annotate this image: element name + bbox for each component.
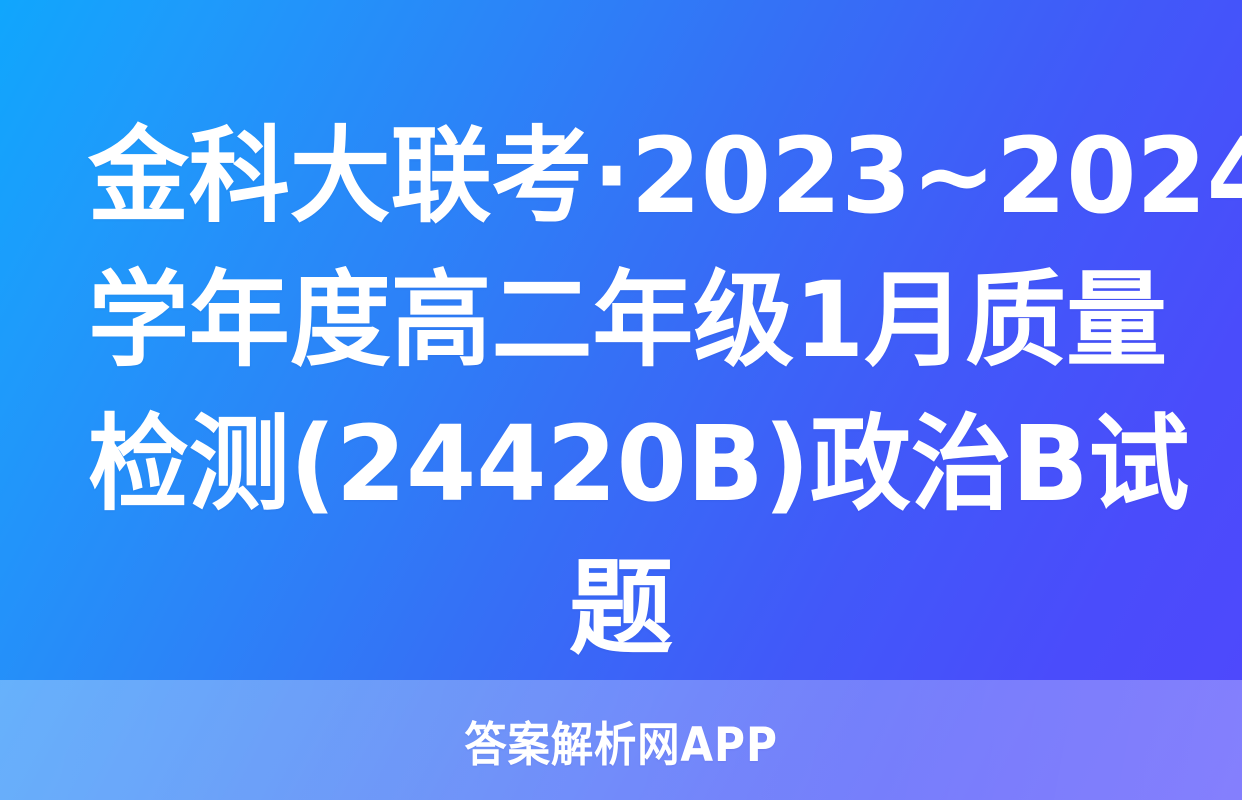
title-line-3: 检测(24420B)政治B试 xyxy=(88,392,1122,536)
exam-cover-card: 金科大联考·2023~2024 学年度高二年级1月质量 检测(24420B)政治… xyxy=(0,0,1242,800)
title-line-4: 题 xyxy=(88,536,1154,680)
footer-watermark-text: 答案解析网APP xyxy=(464,706,777,775)
title-line-2: 学年度高二年级1月质量 xyxy=(88,248,1122,392)
footer-watermark-band: 答案解析网APP xyxy=(0,680,1242,800)
title-line-1: 金科大联考·2023~2024 xyxy=(88,104,1122,248)
title-block: 金科大联考·2023~2024 学年度高二年级1月质量 检测(24420B)政治… xyxy=(88,104,1154,680)
